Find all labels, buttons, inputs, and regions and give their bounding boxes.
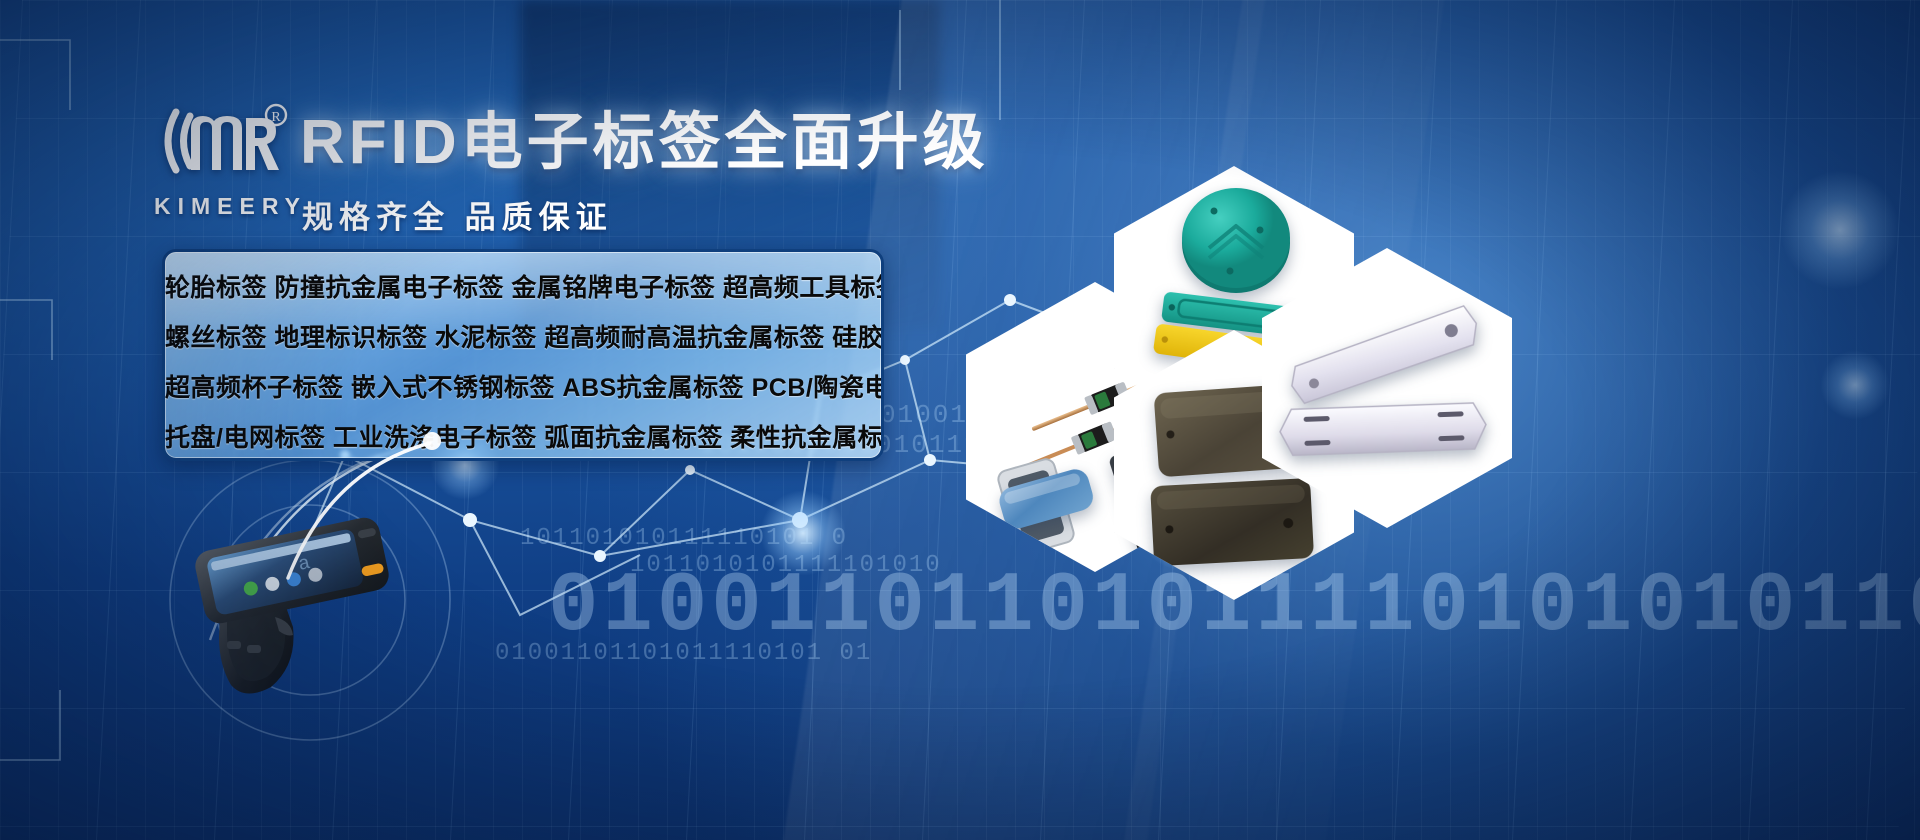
glow-node-5 [1820, 350, 1890, 420]
list-item: 轮胎标签 防撞抗金属电子标签 金属铭牌电子标签 超高频工具标签 [165, 263, 881, 313]
brand-wordmark: KIMEERY [148, 193, 288, 220]
rfid-promo-banner: 0100110110101111010101 10100110110101111… [0, 0, 1920, 840]
list-item: 托盘/电网标签 工业洗涤电子标签 弧面抗金属标签 柔性抗金属标签 [165, 413, 881, 461]
svg-text:R: R [271, 110, 281, 125]
handheld-rfid-reader-icon: a [175, 505, 405, 705]
binary-text-3: 101101010111110101 0 [520, 525, 848, 552]
list-item: 螺丝标签 地理标识标签 水泥标签 超高频耐高温抗金属标签 硅胶腕带 [165, 313, 881, 363]
page-title: RFID电子标签全面升级 [300, 110, 989, 175]
glow-node-4 [1780, 170, 1900, 290]
subtitle: 规格齐全 品质保证 [302, 192, 613, 237]
kimeery-signal-logo-icon: R [148, 98, 288, 184]
list-item: 超高频杯子标签 嵌入式不锈钢标签 ABS抗金属标签 PCB/陶瓷电子标签 [165, 363, 881, 413]
registered-mark-icon: R [266, 105, 286, 125]
product-list-box: 轮胎标签 防撞抗金属电子标签 金属铭牌电子标签 超高频工具标签 螺丝标签 地理标… [162, 249, 884, 461]
handheld-rfid-reader: a [175, 505, 405, 705]
brand-logo: R KIMEERY [148, 98, 288, 220]
